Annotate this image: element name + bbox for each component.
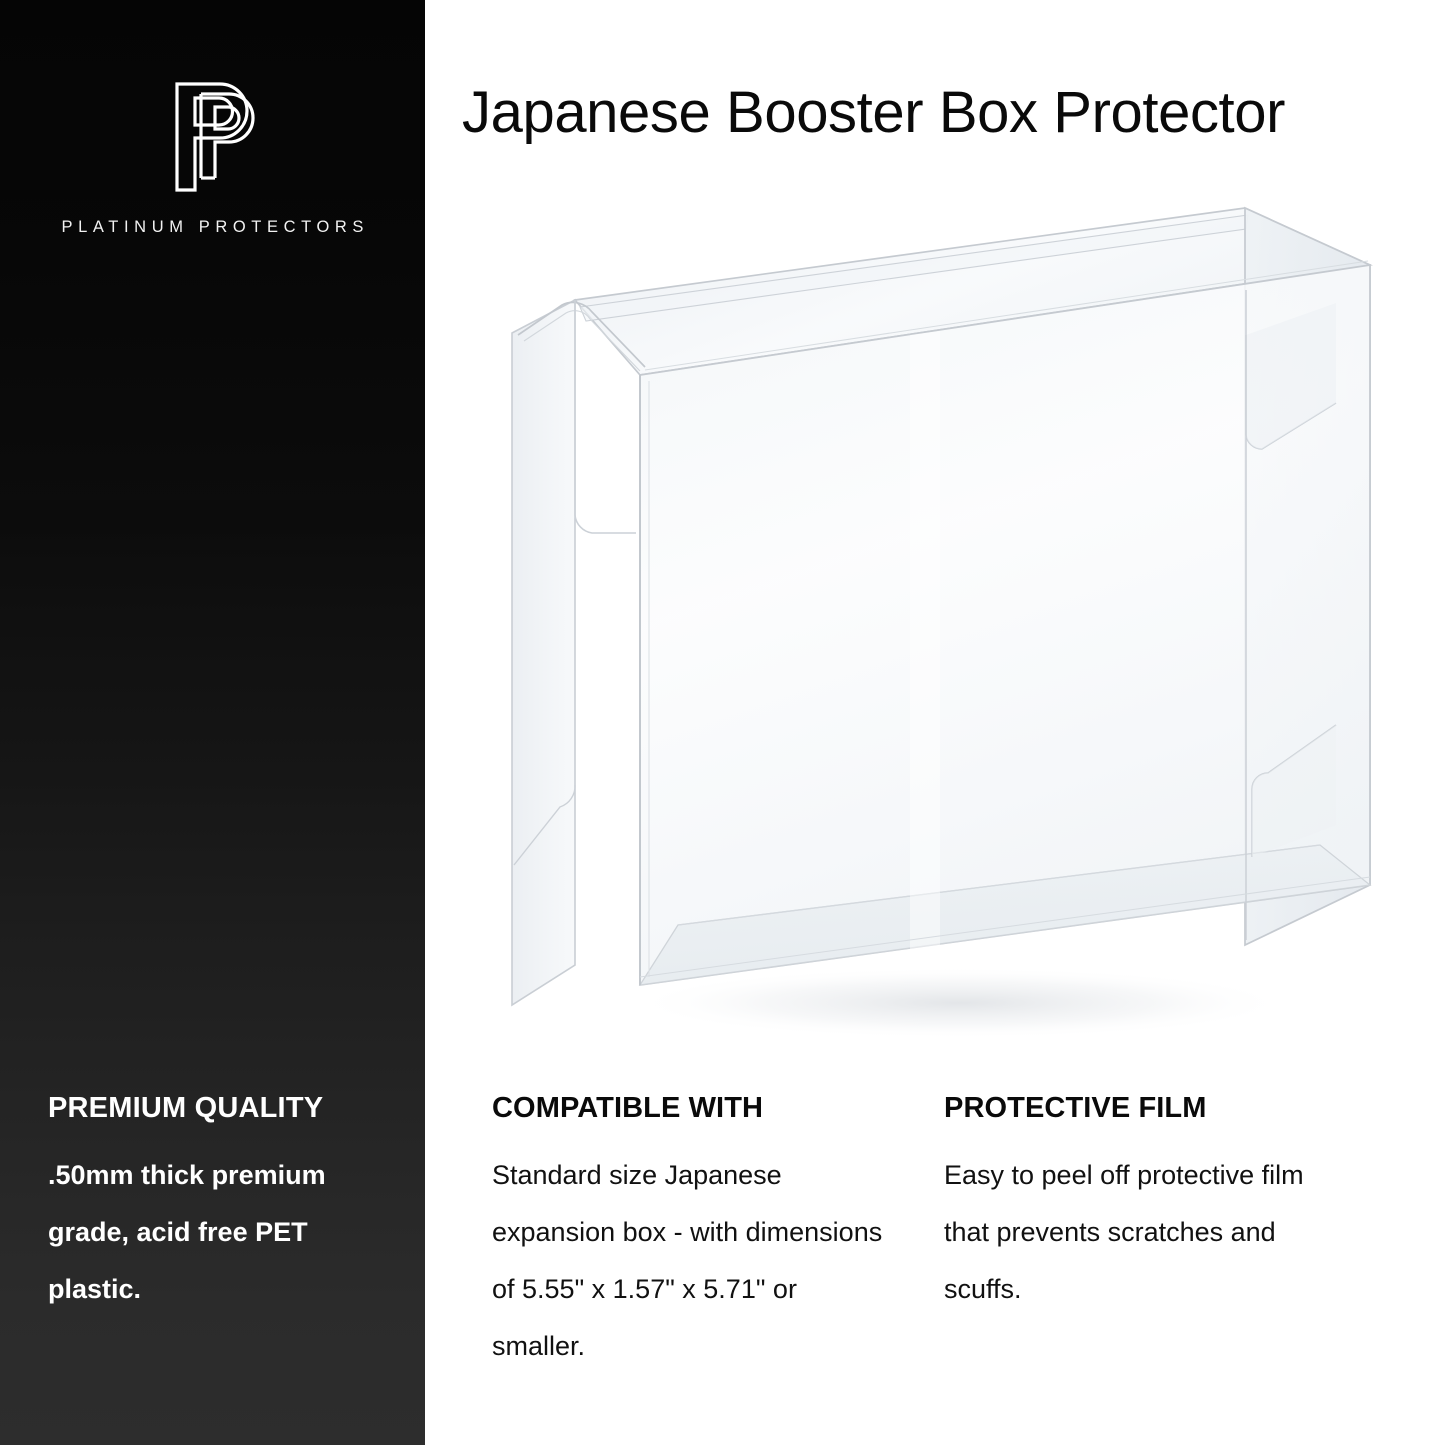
product-info-graphic: PLATINUM PROTECTORS PREMIUM QUALITY .50m… bbox=[0, 0, 1445, 1445]
product-image bbox=[440, 185, 1445, 1065]
premium-quality-block: PREMIUM QUALITY .50mm thick premium grad… bbox=[48, 1092, 393, 1318]
brand-wordmark: PLATINUM PROTECTORS bbox=[0, 218, 425, 236]
feature-column-compatible: COMPATIBLE WITH Standard size Japanese e… bbox=[492, 1092, 944, 1375]
product-shadow bbox=[630, 967, 1290, 1039]
brand-panel: PLATINUM PROTECTORS PREMIUM QUALITY .50m… bbox=[0, 0, 425, 1445]
brand-lockup: PLATINUM PROTECTORS bbox=[0, 78, 425, 236]
box-left-panel bbox=[512, 300, 575, 1005]
feature-body: Easy to peel off protective film that pr… bbox=[944, 1147, 1346, 1318]
pp-monogram-icon bbox=[157, 78, 269, 196]
feature-columns: COMPATIBLE WITH Standard size Japanese e… bbox=[492, 1092, 1397, 1375]
feature-body: Standard size Japanese expansion box - w… bbox=[492, 1147, 894, 1375]
feature-heading: PROTECTIVE FILM bbox=[944, 1092, 1346, 1124]
premium-quality-heading: PREMIUM QUALITY bbox=[48, 1092, 393, 1124]
box-front-sheen bbox=[910, 331, 940, 955]
clear-box-illustration bbox=[440, 185, 1445, 1065]
premium-quality-body: .50mm thick premium grade, acid free PET… bbox=[48, 1147, 393, 1318]
feature-column-protective-film: PROTECTIVE FILM Easy to peel off protect… bbox=[944, 1092, 1396, 1375]
feature-heading: COMPATIBLE WITH bbox=[492, 1092, 894, 1124]
page-title: Japanese Booster Box Protector bbox=[462, 82, 1412, 145]
